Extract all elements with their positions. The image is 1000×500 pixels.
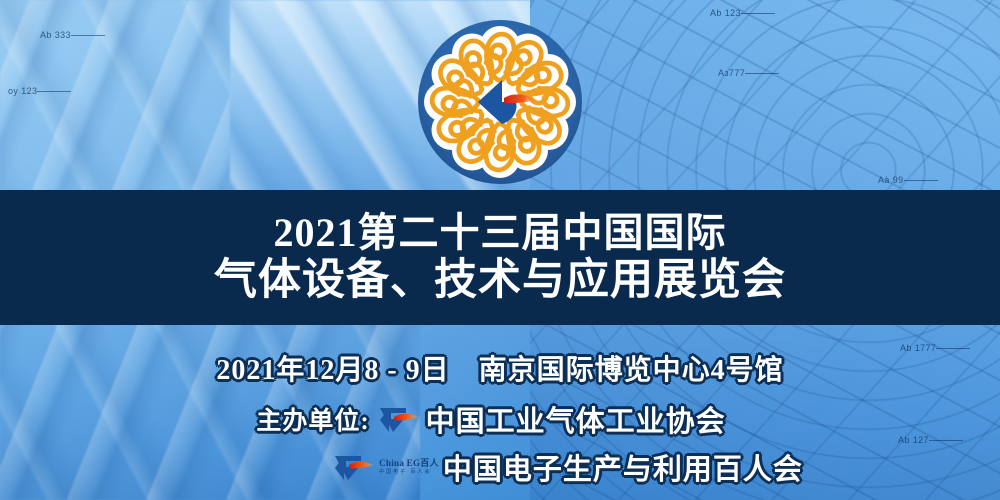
organizer-name-2: 中国电子生产与利用百人会 <box>443 446 803 488</box>
china-eg-logo-text: China EG百人 中国电子 百人会 <box>379 459 439 475</box>
organizer-prefix-label: 主办单位: <box>256 401 369 437</box>
blueprint-label: oy 123 <box>8 86 37 96</box>
china-eg-logo-mark: China EG百人 中国电子 百人会 <box>331 450 439 484</box>
china-eg-logo-en: China EG百人 <box>379 459 439 468</box>
date-and-venue: 2021年12月8 - 9日 南京国际博览中心4号馆 <box>216 348 783 388</box>
exhibition-banner: Ab 333oy 123Ab 123Aз777Aà 99Ab 1777Ab 12… <box>0 0 1000 500</box>
event-info-block: 2021年12月8 - 9日 南京国际博览中心4号馆 主办单位: <box>0 330 1000 500</box>
blueprint-label: Ab 123 <box>710 8 741 18</box>
china-eg-logo-cn: 中国电子 百人会 <box>379 470 439 475</box>
blueprint-label: Aà 99 <box>878 175 904 185</box>
organizer-row-1: 主办单位: 中国工业气体工业协会 <box>256 398 725 440</box>
blueprint-label: Aз777 <box>718 68 745 78</box>
blueprint-label: Ab 333 <box>40 30 71 40</box>
exhibition-rosette-logo <box>400 10 600 190</box>
title-line-2: 气体设备、技术与应用展览会 <box>214 258 786 303</box>
organizer-name-1: 中国工业气体工业协会 <box>426 398 726 440</box>
organizer-row-2: China EG百人 中国电子 百人会 中国电子生产与利用百人会 <box>325 446 803 488</box>
title-line-1: 2021第二十三届中国国际 <box>274 212 727 254</box>
cigia-logo-mark <box>376 402 422 436</box>
title-band: 2021第二十三届中国国际 气体设备、技术与应用展览会 <box>0 190 1000 325</box>
